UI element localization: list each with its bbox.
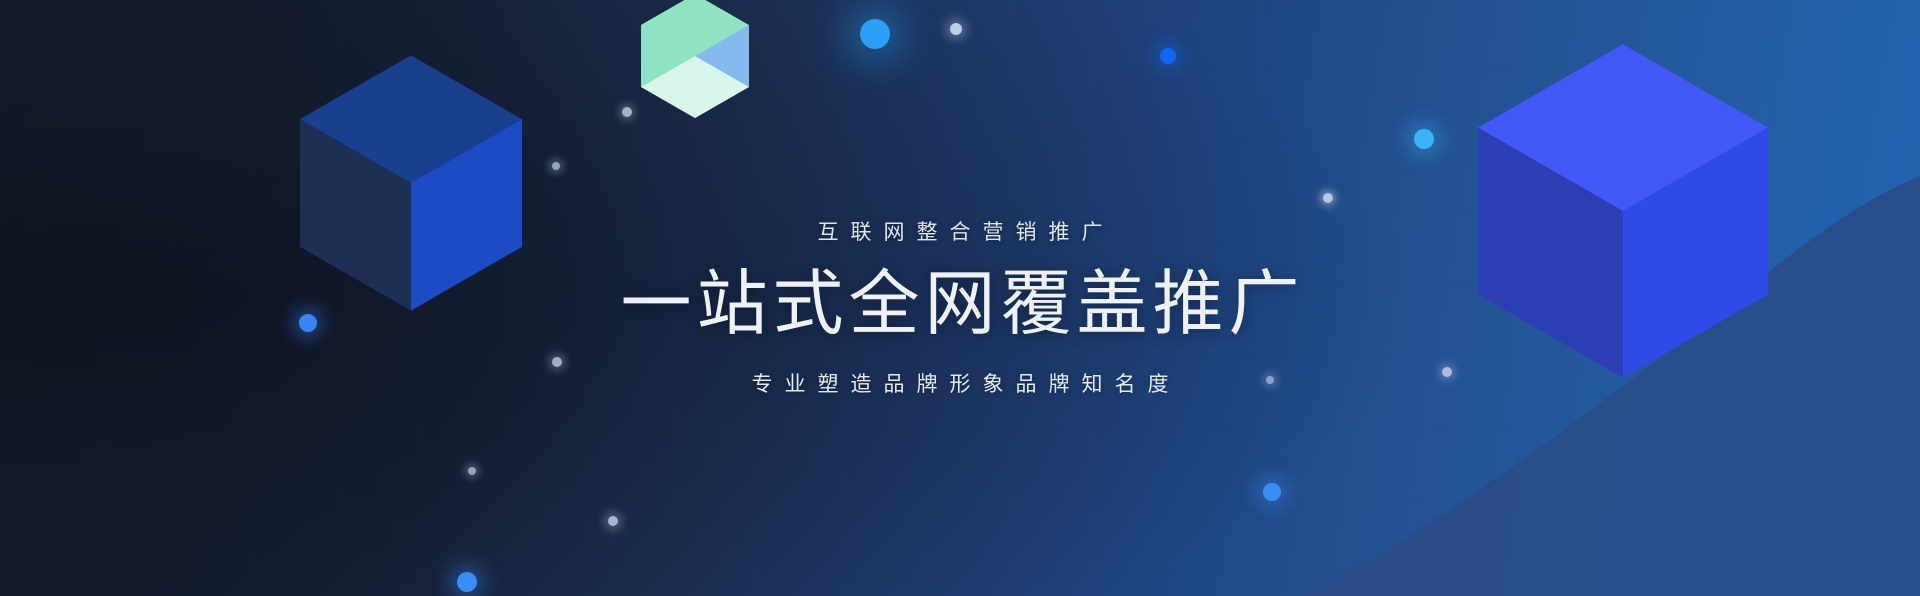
particle-cyan-mid xyxy=(1414,129,1434,149)
particle-pale-tiny-b xyxy=(552,162,560,170)
particle-pale-tiny-d xyxy=(1323,194,1331,202)
banner-tagline: 专业塑造品牌形象品牌知名度 xyxy=(0,374,1920,395)
banner-eyebrow: 互联网整合营销推广 xyxy=(0,222,1920,243)
particle-blue-bottom xyxy=(457,572,477,592)
particle-blue-lower-right xyxy=(1263,483,1281,501)
banner-copy: 互联网整合营销推广 一站式全网覆盖推广 专业塑造品牌形象品牌知名度 xyxy=(0,222,1920,395)
particle-pale-tiny-a xyxy=(622,107,632,117)
banner-headline: 一站式全网覆盖推广 xyxy=(0,269,1920,340)
particle-glow-cyan-large xyxy=(860,19,890,49)
particle-pale-tiny-f xyxy=(468,467,476,475)
particle-blue-right xyxy=(1160,48,1176,64)
cube-small-mint xyxy=(641,0,749,118)
promo-banner: 互联网整合营销推广 一站式全网覆盖推广 专业塑造品牌形象品牌知名度 xyxy=(0,0,1920,596)
particle-pale-tiny-c xyxy=(1323,193,1333,203)
particle-pale-tiny-g xyxy=(608,516,618,526)
particle-pale-small xyxy=(950,23,962,35)
